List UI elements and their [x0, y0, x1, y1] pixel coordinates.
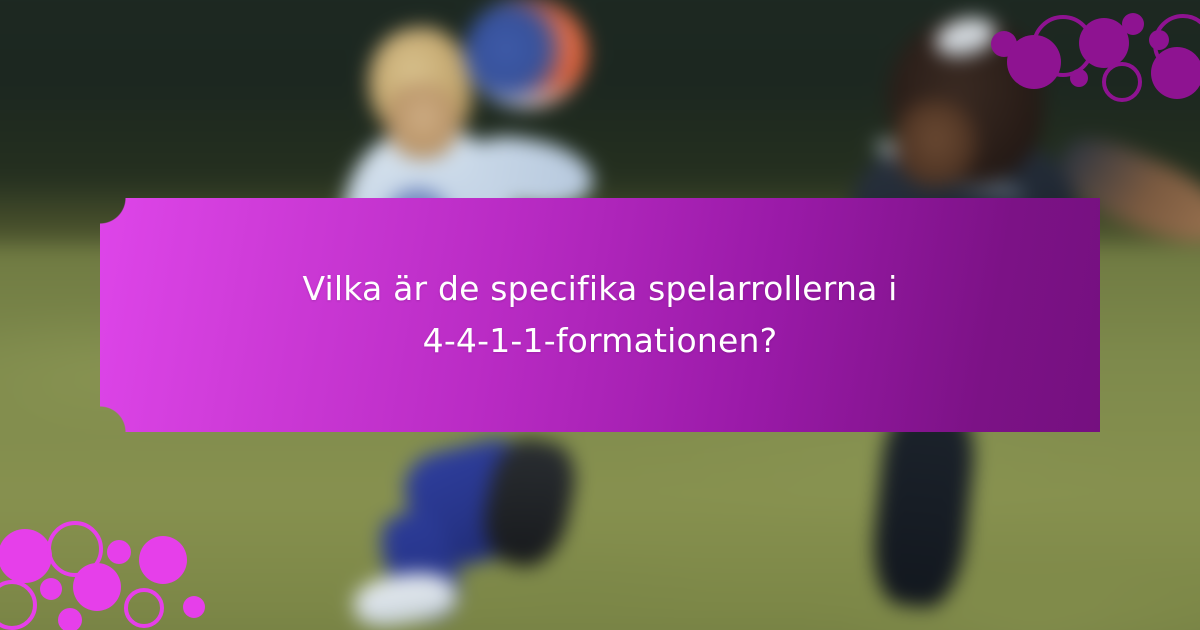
headline-banner: Vilka är de specifika spelarrollerna i 4… — [100, 198, 1100, 432]
title-line-1: Vilka är de specifika spelarrollerna i — [302, 269, 897, 308]
decorative-circle — [1070, 69, 1088, 87]
decorative-circle — [73, 563, 121, 611]
decorative-circle — [139, 536, 187, 584]
decorative-circle — [0, 529, 52, 583]
left-player-face — [386, 83, 460, 159]
soccer-ball — [464, 0, 587, 108]
decorative-circle — [124, 588, 164, 628]
decorative-circle — [40, 578, 62, 600]
decorative-circle — [107, 540, 131, 564]
decorative-circle — [1149, 30, 1169, 50]
share-card: Vilka är de specifika spelarrollerna i 4… — [0, 0, 1200, 630]
decorative-circle — [1007, 35, 1061, 89]
page-title: Vilka är de specifika spelarrollerna i 4… — [274, 263, 925, 367]
right-player-face — [895, 100, 978, 187]
title-line-2: 4-4-1-1-formationen? — [423, 321, 778, 360]
decorative-circle — [183, 596, 205, 618]
decorative-circle — [1151, 47, 1200, 99]
decorative-circle — [1102, 62, 1142, 102]
decorative-circle — [1079, 18, 1129, 68]
decorative-circle — [58, 608, 82, 630]
